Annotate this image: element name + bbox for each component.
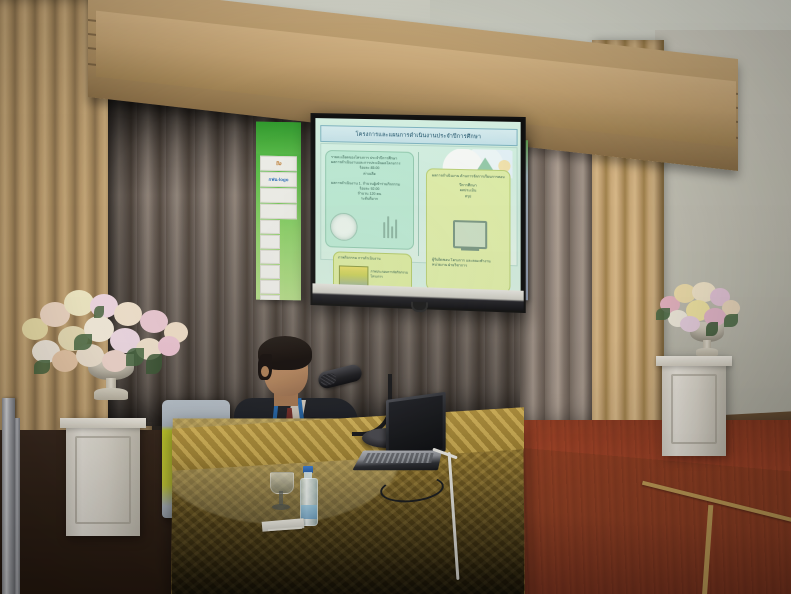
slide-pie-chart-icon (330, 213, 357, 242)
bottle-label (301, 505, 317, 519)
vase-foot-left (94, 388, 128, 400)
banner-left-logo-grid: ปีอ กฟน-logo PTS (260, 156, 297, 298)
slide-body: รายละเอียดของโครงการ ประจำปีการศึกษา ผลก… (320, 143, 517, 266)
slide-left-card-caption: ภาพกิจกรรม การดำเนินงาน (334, 252, 411, 263)
laptop[interactable] (358, 396, 454, 482)
banner-logo-6 (260, 250, 280, 264)
slide-right-card: ผลการดำเนินงาน ด้านการจัดการเรียนการสอน … (426, 168, 511, 290)
drinking-glass[interactable] (270, 472, 292, 516)
glass-foot (272, 504, 290, 510)
pedestal-panel-left (75, 436, 131, 524)
white-pedestal-right (662, 356, 726, 456)
banner-logo-5 (260, 235, 280, 249)
glass-stem (279, 491, 283, 505)
pedestal-cap-left (60, 418, 146, 428)
flower-arrangement-right (648, 278, 768, 358)
slide-left-card: รายละเอียดของโครงการ ประจำปีการศึกษา ผลก… (325, 150, 414, 250)
banner-left-header (256, 122, 301, 155)
slide-left-card-text: ภาพประกอบการจัดกิจกรรมโครงการ (370, 269, 408, 280)
laptop-lid (386, 392, 446, 457)
banner-logo-1: กฟน-logo (260, 172, 297, 188)
banner-logo-2 (260, 188, 297, 204)
slide-right-column: ผลการดำเนินงาน ด้านการจัดการเรียนการสอน … (422, 150, 515, 261)
slide-bar-chart-icon (383, 214, 397, 238)
pull-down-projection-screen[interactable]: โครงการและแผนการดำเนินงานประจำปีการศึกษา… (311, 113, 526, 313)
slide-right-footer-1: หน่วยงาน ฝ่ายวิชาการ (432, 263, 504, 271)
presenter-ear (261, 366, 269, 377)
slide-left-column: รายละเอียดของโครงการ ประจำปีการศึกษา ผลก… (325, 148, 416, 258)
slide-left-sub-3: ระดับดีมาก (331, 196, 408, 203)
banner-logo-8 (260, 280, 280, 294)
metal-stand-pole-secondary (14, 418, 20, 594)
banner-logo-3 (260, 204, 297, 220)
sponsor-banner-left: ปีอ กฟน-logo PTS (256, 122, 301, 301)
banner-logo-4 (260, 220, 280, 234)
laptop-screen (389, 395, 443, 453)
laptop-keys (362, 453, 433, 463)
stage-curtain-right (520, 120, 598, 425)
pedestal-panel-right (671, 374, 717, 444)
water-bottle[interactable] (300, 466, 316, 524)
flower-arrangement-left (18, 288, 208, 398)
slide-divider (418, 152, 419, 256)
photo-scene: ปีอ กฟน-logo PTS ACD U CC IIE SCG CTEC M… (0, 0, 791, 594)
white-pedestal-left (66, 418, 140, 536)
banner-logo-0: ปีอ (260, 156, 297, 172)
banner-logo-9 (260, 295, 280, 301)
slide-right-thumbnail (453, 220, 487, 249)
laptop-keyboard[interactable] (352, 451, 442, 471)
tablecloth-shadow (172, 455, 524, 594)
vase-foot-right (696, 348, 718, 356)
banner-logo-7 (260, 265, 280, 279)
slide-right-line-2: สรุป (432, 193, 504, 200)
projection-surface: โครงการและแผนการดำเนินงานประจำปีการศึกษา… (315, 118, 520, 291)
